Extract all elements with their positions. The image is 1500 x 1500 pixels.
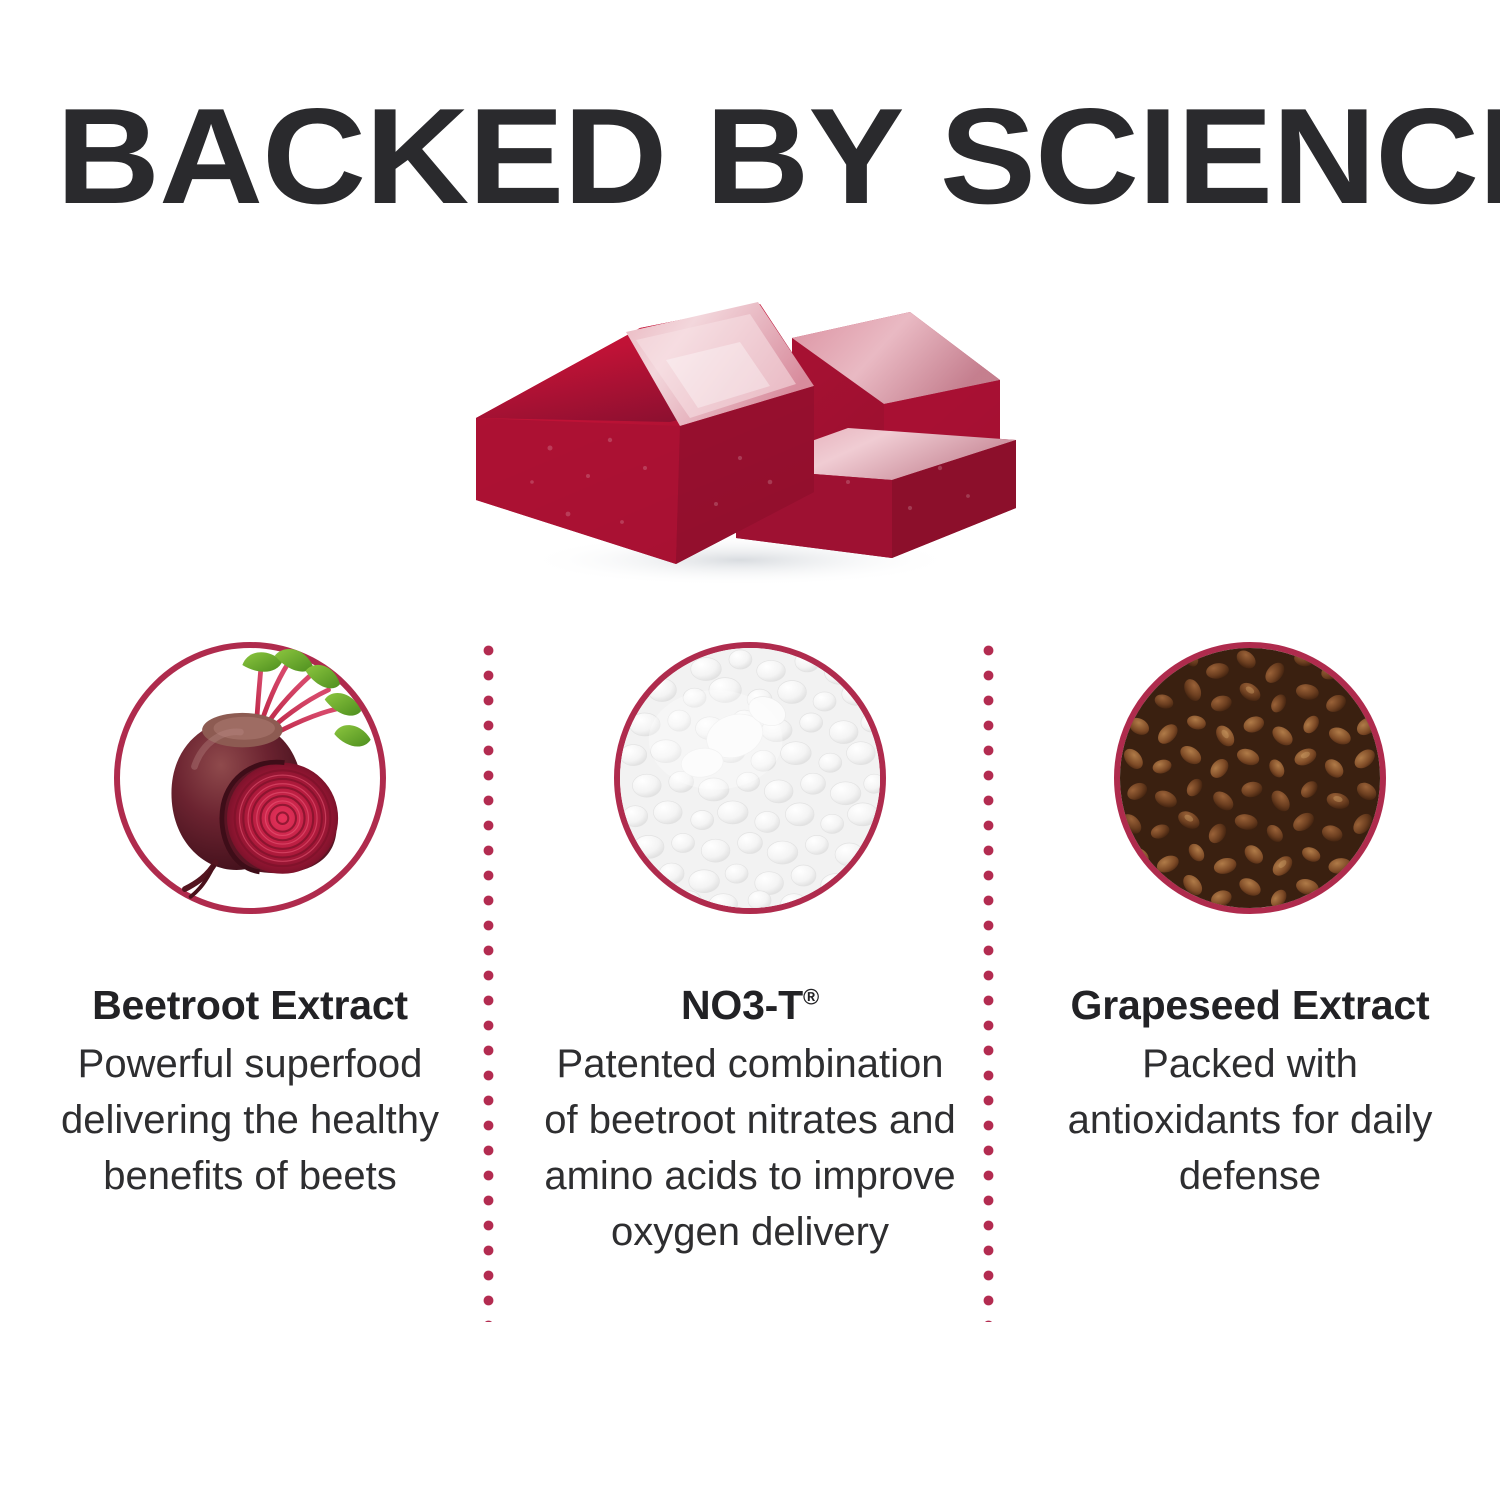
beetroot-body: Powerful superfood delivering the health… [35, 1036, 465, 1204]
grapeseed-heading: Grapeseed Extract [1071, 982, 1430, 1028]
registered-trademark-symbol: ® [803, 984, 819, 1009]
hero-product-image [440, 268, 1060, 608]
ingredient-column-no3t: NO3-T® Patented combination of beetroot … [500, 628, 1000, 1260]
grapeseed-circle-frame [1114, 642, 1386, 914]
no3t-body: Patented combination of beetroot nitrate… [535, 1036, 965, 1260]
beetroot-circle-frame [114, 642, 386, 914]
white-granules-photo-icon [620, 648, 880, 908]
grapeseed-photo-icon [1120, 648, 1380, 908]
no3t-heading: NO3-T® [681, 982, 819, 1028]
ingredient-column-beetroot: Beetroot Extract Powerful superfood deli… [0, 628, 500, 1204]
ingredient-columns: Beetroot Extract Powerful superfood deli… [0, 628, 1500, 1388]
no3t-circle-frame [614, 642, 886, 914]
ingredient-column-grapeseed: Grapeseed Extract Packed with antioxidan… [1000, 628, 1500, 1204]
beetroot-heading: Beetroot Extract [92, 982, 408, 1028]
beetroot-photo-icon [114, 642, 386, 914]
grapeseed-body: Packed with antioxidants for daily defen… [1035, 1036, 1465, 1204]
page-title: BACKED BY SCIENCE [56, 92, 1500, 220]
infographic-page: BACKED BY SCIENCE [0, 0, 1500, 1500]
gummy-cubes-icon [440, 268, 1060, 608]
